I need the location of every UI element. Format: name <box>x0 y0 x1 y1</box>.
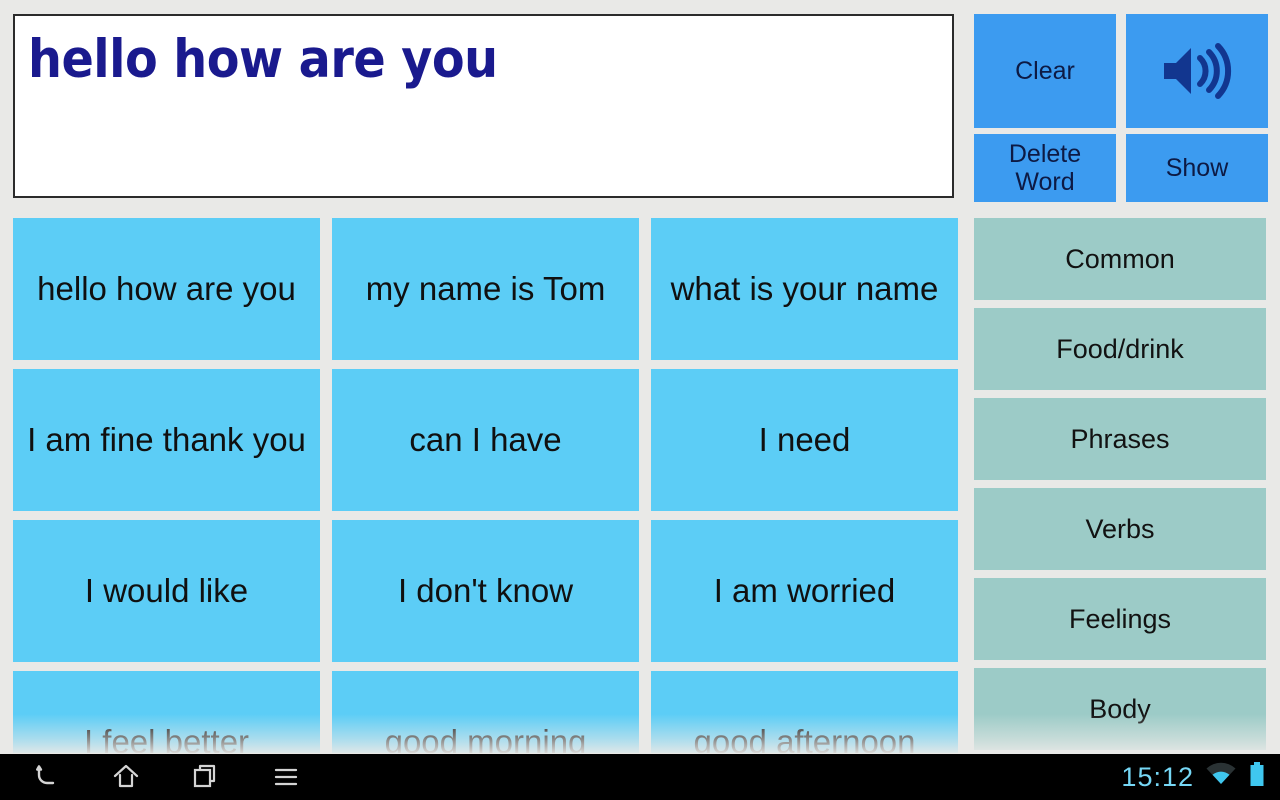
phrase-button[interactable]: good morning <box>332 671 639 753</box>
aac-app-screen: hello how are you Clear Delete Word <box>0 0 1280 800</box>
phrase-button[interactable]: I would like <box>13 520 320 662</box>
status-icons-group: 15:12 <box>1121 754 1266 800</box>
phrase-button[interactable]: I am worried <box>651 520 958 662</box>
category-button-label: Feelings <box>1069 604 1171 635</box>
phrase-button-label: good afternoon <box>693 720 915 753</box>
phrase-button[interactable]: I feel better <box>13 671 320 753</box>
back-arrow-icon <box>31 763 61 791</box>
phrase-button-label: my name is Tom <box>366 267 606 311</box>
category-button[interactable]: Common <box>974 218 1266 300</box>
phrase-button[interactable]: can I have <box>332 369 639 511</box>
phrase-button-label: I am fine thank you <box>27 418 306 462</box>
phrase-button[interactable]: I don't know <box>332 520 639 662</box>
phrase-button-label: I am worried <box>714 569 896 613</box>
home-button[interactable] <box>104 757 148 797</box>
android-system-bar: 15:12 <box>0 754 1280 800</box>
phrase-button-label: good morning <box>385 720 587 753</box>
speaker-icon <box>1160 14 1234 128</box>
phrase-button-label: I feel better <box>84 720 249 753</box>
utterance-textbox[interactable]: hello how are you <box>13 14 954 198</box>
category-button-label: Common <box>1065 244 1175 275</box>
back-button[interactable] <box>24 757 68 797</box>
wifi-icon[interactable] <box>1205 762 1237 793</box>
category-button-label: Phrases <box>1070 424 1169 455</box>
show-button-label: Show <box>1166 154 1229 182</box>
category-button-label: Body <box>1089 694 1151 725</box>
status-clock: 15:12 <box>1121 762 1194 793</box>
category-button[interactable]: Food/drink <box>974 308 1266 390</box>
category-button-label: Food/drink <box>1056 334 1184 365</box>
home-icon <box>111 763 141 791</box>
phrase-button[interactable]: hello how are you <box>13 218 320 360</box>
phrase-button-label: I would like <box>85 569 248 613</box>
action-button-group: Clear Delete Word Show <box>974 14 1268 202</box>
recent-apps-button[interactable] <box>184 757 228 797</box>
composer-area: hello how are you Clear Delete Word <box>0 0 1280 212</box>
delete-word-button[interactable]: Delete Word <box>974 134 1116 202</box>
category-list[interactable]: CommonFood/drinkPhrasesVerbsFeelingsBody <box>974 218 1266 753</box>
phrase-button[interactable]: what is your name <box>651 218 958 360</box>
category-button-label: Verbs <box>1085 514 1154 545</box>
phrase-button[interactable]: I need <box>651 369 958 511</box>
clear-button[interactable]: Clear <box>974 14 1116 128</box>
phrase-button[interactable]: I am fine thank you <box>13 369 320 511</box>
show-button[interactable]: Show <box>1126 134 1268 202</box>
recent-apps-icon <box>191 763 221 791</box>
clear-button-label: Clear <box>1015 57 1075 85</box>
phrase-button-label: hello how are you <box>37 267 296 311</box>
category-button[interactable]: Feelings <box>974 578 1266 660</box>
phrase-button-label: what is your name <box>671 267 939 311</box>
phrase-button-label: I don't know <box>398 569 573 613</box>
navigation-button-group <box>0 757 308 797</box>
utterance-text: hello how are you <box>15 16 952 88</box>
phrase-grid[interactable]: hello how are youmy name is Tomwhat is y… <box>13 218 958 753</box>
menu-icon <box>271 763 301 791</box>
delete-word-button-label: Delete Word <box>1009 140 1081 196</box>
category-button[interactable]: Body <box>974 668 1266 750</box>
category-button[interactable]: Verbs <box>974 488 1266 570</box>
phrase-button-label: can I have <box>409 418 561 462</box>
speak-button[interactable] <box>1126 14 1268 128</box>
battery-icon[interactable] <box>1248 761 1266 794</box>
category-button[interactable]: Phrases <box>974 398 1266 480</box>
menu-button[interactable] <box>264 757 308 797</box>
phrase-button-label: I need <box>759 418 851 462</box>
phrase-button[interactable]: my name is Tom <box>332 218 639 360</box>
phrase-button[interactable]: good afternoon <box>651 671 958 753</box>
